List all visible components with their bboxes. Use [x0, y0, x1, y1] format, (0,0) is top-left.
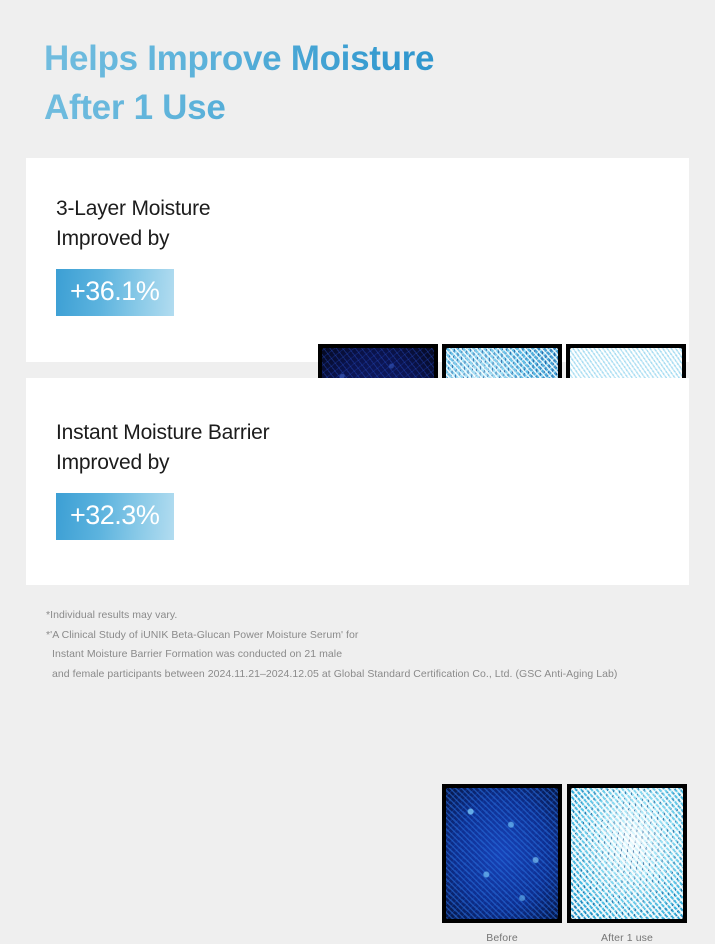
- card-1-title-line-2: Improved by: [56, 224, 306, 254]
- headline-line-1: Helps Improve Moisture: [44, 34, 604, 83]
- microscopy-image-frame: [567, 784, 687, 923]
- card-1-title: 3-Layer Moisture Improved by: [56, 194, 306, 254]
- result-card-3-layer-moisture: 3-Layer Moisture Improved by +36.1% Befo…: [26, 158, 689, 362]
- footnote-line-3: Instant Moisture Barrier Formation was c…: [46, 645, 676, 665]
- card-2-panel-before: Before: [442, 784, 562, 944]
- footnote-line-1: *Individual results may vary.: [46, 606, 676, 626]
- card-2-title: Instant Moisture Barrier Improved by: [56, 418, 306, 478]
- result-card-instant-moisture-barrier: Instant Moisture Barrier Improved by +32…: [26, 378, 689, 585]
- card-1-text-block: 3-Layer Moisture Improved by +36.1%: [56, 194, 306, 316]
- footnote-disclaimer: *Individual results may vary. *'A Clinic…: [46, 606, 676, 684]
- microscopy-image-frame: [442, 784, 562, 923]
- card-2-title-line-1: Instant Moisture Barrier: [56, 421, 269, 444]
- microscopy-image-after-1-use: [571, 788, 683, 919]
- headline-line-2: After 1 Use: [44, 83, 604, 132]
- footnote-line-4: and female participants between 2024.11.…: [46, 665, 676, 685]
- page-headline: Helps Improve Moisture After 1 Use: [44, 34, 604, 132]
- card-1-title-line-1: 3-Layer Moisture: [56, 197, 210, 220]
- card-2-panel-after-1-use: After 1 use: [567, 784, 687, 944]
- panel-caption: Before: [486, 932, 518, 944]
- card-1-improvement-badge: +36.1%: [56, 269, 174, 316]
- microscopy-image-before: [446, 788, 558, 919]
- footnote-line-2: *'A Clinical Study of iUNIK Beta-Glucan …: [46, 626, 676, 646]
- card-2-image-row: Before After 1 use: [442, 784, 687, 944]
- card-2-text-block: Instant Moisture Barrier Improved by +32…: [56, 418, 306, 540]
- panel-caption: After 1 use: [601, 932, 653, 944]
- card-2-title-line-2: Improved by: [56, 448, 306, 478]
- card-2-improvement-badge: +32.3%: [56, 493, 174, 540]
